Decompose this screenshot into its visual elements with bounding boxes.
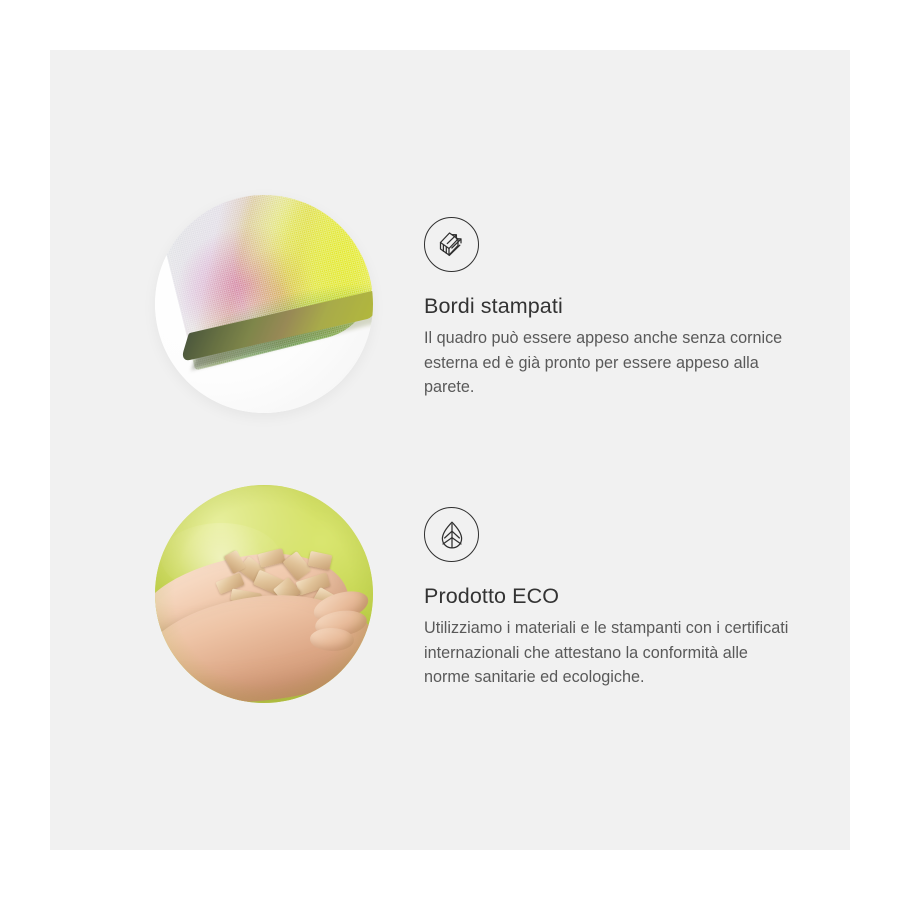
page-stage: Bordi stampati Il quadro può essere appe… xyxy=(0,0,900,900)
leaf-icon xyxy=(424,507,479,562)
folded-canvas-edge-icon xyxy=(424,217,479,272)
feature-description: Il quadro può essere appeso anche senza … xyxy=(424,326,792,400)
feature-title: Prodotto ECO xyxy=(424,584,806,609)
printed-canvas-corner-photo xyxy=(155,195,373,413)
content-panel: Bordi stampati Il quadro può essere appe… xyxy=(50,50,850,850)
feature-text-printed-edges: Bordi stampati Il quadro può essere appe… xyxy=(424,195,806,400)
feature-text-eco-product: Prodotto ECO Utilizziamo i materiali e l… xyxy=(424,485,806,690)
hands-holding-wood-chips-photo xyxy=(155,485,373,703)
feature-description: Utilizziamo i materiali e le stampanti c… xyxy=(424,616,792,690)
photo-vignette xyxy=(155,485,373,703)
feature-title: Bordi stampati xyxy=(424,294,806,319)
